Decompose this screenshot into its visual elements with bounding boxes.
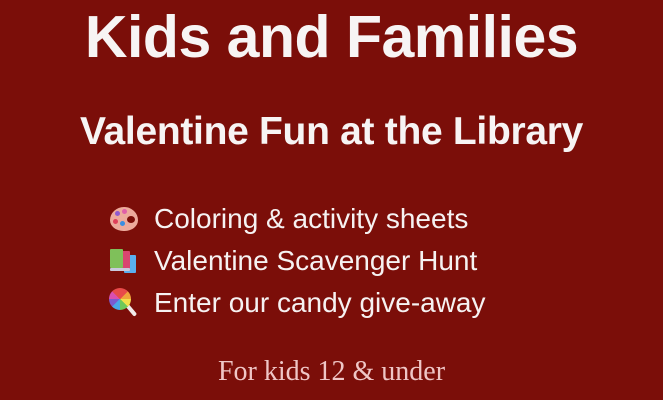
- list-item-label: Valentine Scavenger Hunt: [154, 245, 477, 277]
- lollipop-icon: [108, 287, 142, 319]
- list-item: Enter our candy give-away: [108, 282, 588, 324]
- books-icon: [108, 245, 142, 277]
- activity-list: Coloring & activity sheets Valentine Sca…: [108, 198, 588, 324]
- page-subtitle: Valentine Fun at the Library: [0, 107, 663, 157]
- artist-palette-icon: [108, 203, 142, 235]
- list-item-label: Coloring & activity sheets: [154, 203, 468, 235]
- list-item-label: Enter our candy give-away: [154, 287, 486, 319]
- list-item: Valentine Scavenger Hunt: [108, 240, 588, 282]
- kids-and-families-poster: Kids and Families Valentine Fun at the L…: [0, 0, 663, 400]
- page-title: Kids and Families: [0, 4, 663, 70]
- age-restriction-note: For kids 12 & under: [0, 355, 663, 389]
- list-item: Coloring & activity sheets: [108, 198, 588, 240]
